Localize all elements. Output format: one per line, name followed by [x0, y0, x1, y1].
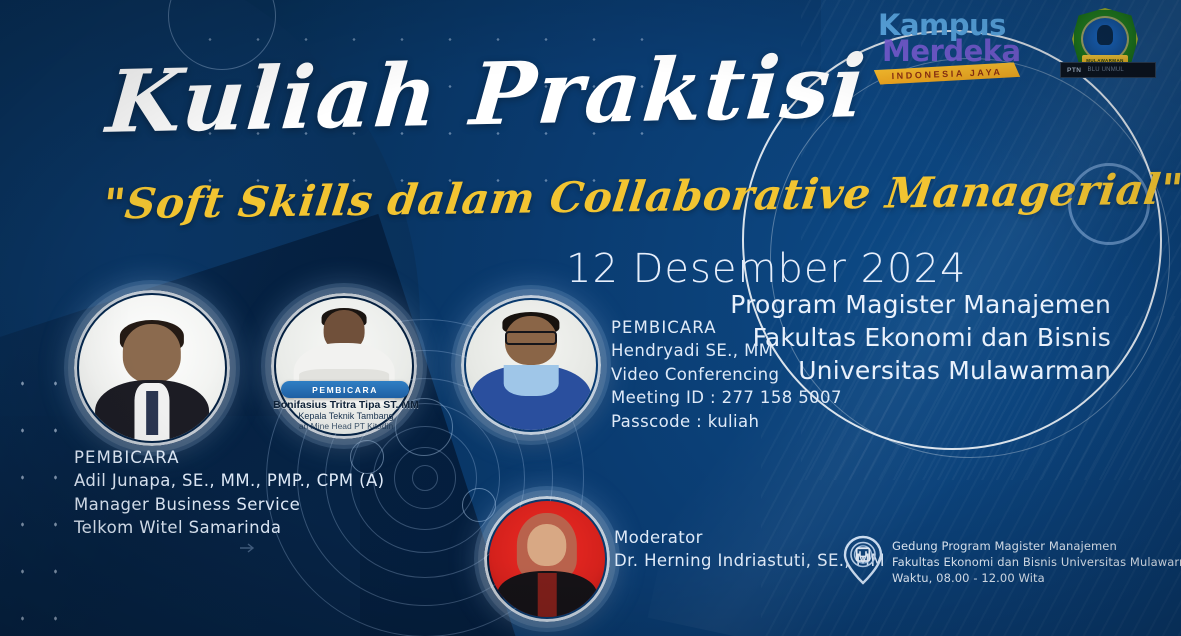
arrow-icon [240, 540, 256, 550]
seal-emblem-figure [1097, 25, 1113, 45]
hendryadi-passcode: Passcode : kuliah [611, 410, 842, 433]
speaker-photo-adil [74, 290, 230, 446]
adil-position: Manager Business Service [74, 493, 385, 516]
adil-name: Adil Junapa, SE., MM., PMP., CPM (A) [74, 469, 385, 492]
hendryadi-meeting-id: Meeting ID : 277 158 5007 [611, 386, 842, 409]
universitas-mulawarman-seal: MULAWARMAN [1072, 8, 1138, 70]
moderator-photo [484, 496, 610, 622]
location-block: Gedung Program Magister Manajemen Fakult… [843, 535, 1181, 587]
bonifasius-position-en: an Mine Head PT Kitadin [271, 421, 421, 432]
seal-accreditation-bar: PTN BLU UNMUL [1060, 62, 1156, 78]
location-line-2: Fakultas Ekonomi dan Bisnis Universitas … [892, 555, 1181, 571]
hendryadi-mode: Video Conferencing [611, 363, 842, 386]
pembicara-badge: PEMBICARA [281, 381, 409, 398]
moderator-photo-frame [484, 496, 610, 622]
speaker-photo-adil-frame [74, 290, 230, 446]
hendryadi-name: Hendryadi SE., MM [611, 339, 842, 362]
background-corner-top-left [0, 0, 120, 120]
speaker-photo-hendryadi [461, 295, 601, 435]
location-line-3: Waktu, 08.00 - 12.00 Wita [892, 571, 1181, 587]
speaker-photo-hendryadi-frame [461, 295, 601, 435]
hendryadi-role: PEMBICARA [611, 316, 842, 339]
seal-bar-text-2: BLU UNMUL [1088, 67, 1124, 73]
speaker-info-hendryadi: PEMBICARA Hendryadi SE., MM Video Confer… [611, 316, 842, 433]
kampus-merdeka-line-2: Merdeka [882, 34, 1021, 68]
adil-role: PEMBICARA [74, 446, 385, 469]
location-line-1: Gedung Program Magister Manajemen [892, 539, 1181, 555]
location-text: Gedung Program Magister Manajemen Fakult… [892, 535, 1181, 587]
page-title: Kuliah Praktisi [104, 44, 870, 146]
map-pin-icon [843, 535, 883, 585]
kampus-merdeka-logo: Kampus Merdeka INDONESIA JAYA [878, 8, 1028, 84]
event-poster: Kuliah Praktisi "Soft Skills dalam Colla… [0, 0, 1181, 636]
event-date: 12 Desember 2024 [566, 246, 966, 292]
speaker-info-adil: PEMBICARA Adil Junapa, SE., MM., PMP., C… [74, 446, 385, 540]
seal-bar-text-1: PTN [1067, 67, 1082, 74]
adil-org: Telkom Witel Samarinda [74, 516, 385, 539]
